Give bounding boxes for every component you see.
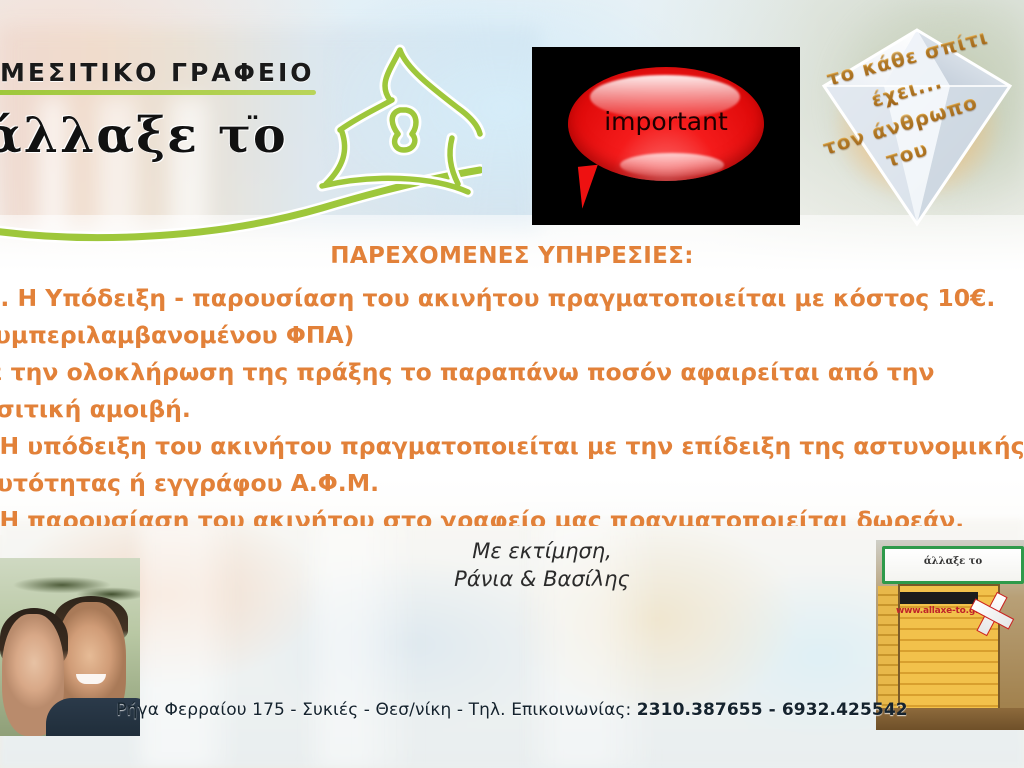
services-line: μεσιτική αμοιβή. <box>0 391 1024 428</box>
services-title: ΠΑΡΕΧΟΜΕΝΕΣ ΥΠΗΡΕΣΙΕΣ: <box>0 243 1024 269</box>
shop-sign-label: άλλαξε το <box>885 556 1021 567</box>
diamond-icon <box>810 24 1024 232</box>
services-line: Με την ολοκλήρωση της πράξης το παραπάνω… <box>0 354 1024 391</box>
contact-phones: 2310.387655 - 6932.425542 <box>637 700 908 720</box>
logo-subtitle: ΜΕΣΙΤΙΚΟ ΓΡΑΦΕΙΟ <box>0 58 315 87</box>
important-callout-panel: important <box>532 47 800 225</box>
services-line: 1. Η Υπόδειξη - παρουσίαση του ακινήτου … <box>0 280 1024 317</box>
signature-closing: Με εκτίμηση, <box>402 537 682 565</box>
services-line: 2. Η υπόδειξη του ακινήτου πραγματοποιεί… <box>0 428 1024 465</box>
logo-brand-name: άλλαξε το <box>0 106 288 164</box>
services-line-list: 1. Η Υπόδειξη - παρουσίαση του ακινήτου … <box>0 280 1024 526</box>
bubble-highlight-bottom <box>620 153 724 177</box>
house-outline-icon <box>282 34 532 234</box>
shop-cross-decal <box>972 594 1012 634</box>
signature-names: Ράνια & Βασίλης <box>402 565 682 593</box>
shop-listing-rack-left <box>878 586 898 714</box>
contact-address: Ρήγα Φερραίου 175 - Συκιές - Θεσ/νίκη - … <box>116 700 636 720</box>
services-line: 3. Η παρουσίαση του ακινήτου στο γραφείο… <box>0 502 1024 526</box>
diamond-badge: το κάθε σπίτι έχει... τον άνθρωπο του <box>810 24 1024 232</box>
important-label: important <box>568 107 764 136</box>
brand-logo: ΜΕΣΙΤΙΚΟ ΓΡΑΦΕΙΟ ̈ άλλαξε το ̈ <box>0 40 542 230</box>
speech-bubble-icon: important <box>568 67 764 181</box>
logo-underline <box>0 90 316 95</box>
shop-black-banner <box>900 592 978 604</box>
services-line: (συμπεριλαμβανομένου ΦΠΑ) <box>0 317 1024 354</box>
contact-line: Ρήγα Φερραίου 175 - Συκιές - Θεσ/νίκη - … <box>0 700 1024 720</box>
services-line: ταυτότητας ή εγγράφου Α.Φ.Μ. <box>0 465 1024 502</box>
poster-canvas: ΜΕΣΙΤΙΚΟ ΓΡΑΦΕΙΟ ̈ άλλαξε το ̈ important <box>0 0 1024 768</box>
services-section: ΠΑΡΕΧΟΜΕΝΕΣ ΥΠΗΡΕΣΙΕΣ: 1. Η Υπόδειξη - π… <box>0 236 1024 526</box>
shop-sign-board: άλλαξε το <box>882 546 1024 584</box>
signature-block: Με εκτίμηση, Ράνια & Βασίλης <box>402 537 682 593</box>
